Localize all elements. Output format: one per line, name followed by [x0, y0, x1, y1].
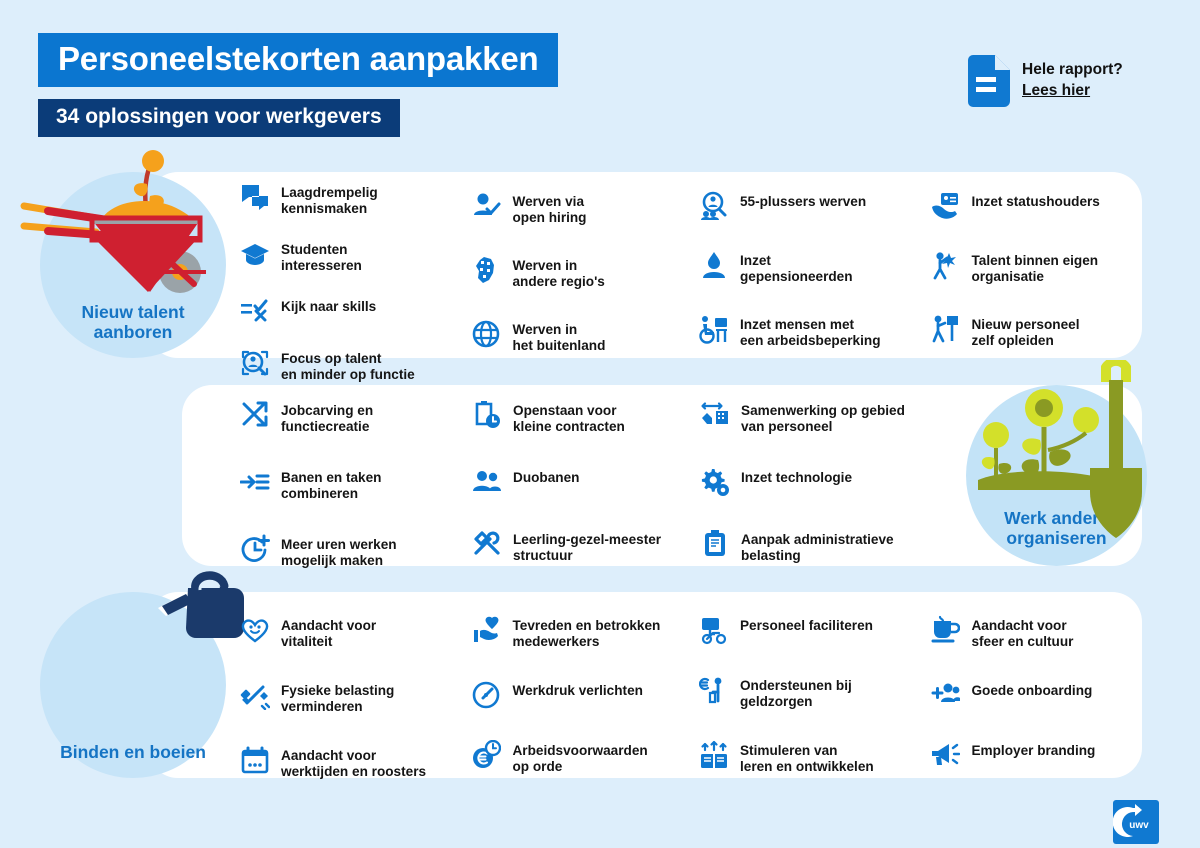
- list-item-label: Laagdrempelig kennismaken: [281, 182, 378, 217]
- split-arrows-icon: [240, 400, 270, 430]
- add-people-icon: [930, 680, 960, 710]
- list-item-label: Leerling-gezel-meester structuur: [513, 529, 661, 564]
- page-title: Personeelstekorten aanpakken: [38, 33, 558, 87]
- list-item[interactable]: Aandacht voor vitaliteit: [240, 615, 471, 650]
- list-item[interactable]: Samenwerking op gebied van personeel: [700, 400, 940, 435]
- list-item-label: Inzet statushouders: [971, 191, 1099, 210]
- hand-id-card-icon: [930, 191, 960, 221]
- list-item-label: Duobanen: [513, 467, 579, 486]
- section-badge-label: Nieuw talent aanboren: [40, 302, 226, 342]
- list-item-label: Kijk naar skills: [281, 296, 376, 315]
- list-item[interactable]: Fysieke belasting verminderen: [240, 680, 471, 715]
- list-item-label: Tevreden en betrokken medewerkers: [512, 615, 660, 650]
- person-check-icon: [471, 191, 501, 221]
- page-subtitle: 34 oplossingen voor werkgevers: [38, 99, 400, 137]
- report-read-here[interactable]: Lees hier: [1022, 81, 1123, 102]
- person-magnifier-focus-icon: [240, 348, 270, 378]
- list-item-label: Aanpak administratieve belasting: [741, 529, 894, 564]
- list-item-label: Jobcarving en functiecreatie: [281, 400, 373, 435]
- list-item-label: Banen en taken combineren: [281, 467, 381, 502]
- clipboard-clock-icon: [472, 400, 502, 430]
- list-item[interactable]: Aandacht voor sfeer en cultuur: [930, 615, 1140, 650]
- person-senior-icon: [699, 250, 729, 280]
- hand-heart-icon: [471, 615, 501, 645]
- gauge-icon: [471, 680, 501, 710]
- clipboard-document-icon: [700, 529, 730, 559]
- list-item[interactable]: Goede onboarding: [930, 680, 1140, 710]
- person-whiteboard-icon: [930, 314, 960, 344]
- list-item-label: Meer uren werken mogelijk maken: [281, 534, 397, 569]
- list-item-label: 55-plussers werven: [740, 191, 866, 210]
- heart-smile-icon: [240, 615, 270, 645]
- list-item-label: Studenten interesseren: [281, 239, 362, 274]
- list-item-label: Arbeidsvoorwaarden op orde: [512, 740, 647, 775]
- list-item-label: Werven via open hiring: [512, 191, 586, 226]
- list-item-label: Ondersteunen bij geldzorgen: [740, 675, 852, 710]
- clock-plus-icon: [240, 534, 270, 564]
- section-badge-label: Binden en boeien: [40, 742, 226, 762]
- list-item[interactable]: Werven in andere regio's: [471, 255, 699, 290]
- list-item-label: Fysieke belasting verminderen: [281, 680, 394, 715]
- list-item[interactable]: Banen en taken combineren: [240, 467, 472, 502]
- report-link-text: Hele rapport? Lees hier: [1022, 60, 1123, 102]
- list-item-label: Aandacht voor vitaliteit: [281, 615, 376, 650]
- globe-icon: [471, 319, 501, 349]
- list-item[interactable]: Tevreden en betrokken medewerkers: [471, 615, 699, 650]
- euro-person-desk-icon: [699, 675, 729, 705]
- list-item[interactable]: Focus op talent en minder op functie: [240, 348, 471, 383]
- chat-bubbles-icon: [240, 182, 270, 212]
- list-item-label: Samenwerking op gebied van personeel: [741, 400, 905, 435]
- list-item[interactable]: 55-plussers werven: [699, 191, 930, 221]
- checklist-skills-icon: [240, 296, 270, 326]
- section-items-binden-boeien: Aandacht voor vitaliteit Fysieke belasti…: [240, 615, 1140, 780]
- infographic-page: Personeelstekorten aanpakken 34 oplossin…: [0, 0, 1200, 848]
- report-link[interactable]: Hele rapport? Lees hier: [968, 55, 1123, 107]
- wheelchair-desk-icon: [699, 314, 729, 344]
- uwv-logo: uwv: [1113, 800, 1159, 844]
- list-item[interactable]: Stimuleren van leren en ontwikkelen: [699, 740, 930, 775]
- netherlands-map-icon: [471, 255, 501, 285]
- list-item[interactable]: Nieuw personeel zelf opleiden: [930, 314, 1140, 349]
- book-arrows-up-icon: [699, 740, 729, 770]
- list-item-label: Focus op talent en minder op functie: [281, 348, 415, 383]
- list-item-label: Personeel faciliteren: [740, 615, 873, 634]
- list-item[interactable]: Leerling-gezel-meester structuur: [472, 529, 700, 564]
- list-item-label: Werkdruk verlichten: [512, 680, 642, 699]
- list-item-label: Inzet technologie: [741, 467, 852, 486]
- list-item[interactable]: Talent binnen eigen organisatie: [930, 250, 1140, 285]
- monitor-bike-icon: [699, 615, 729, 645]
- list-item[interactable]: Ondersteunen bij geldzorgen: [699, 675, 930, 710]
- graduation-cap-icon: [240, 239, 270, 269]
- gears-icon: [700, 467, 730, 497]
- list-item[interactable]: Inzet gepensioneerden: [699, 250, 930, 285]
- list-item-label: Openstaan voor kleine contracten: [513, 400, 625, 435]
- coffee-cup-icon: [930, 615, 960, 645]
- list-item[interactable]: Studenten interesseren: [240, 239, 471, 274]
- magnifier-people-icon: [699, 191, 729, 221]
- list-item[interactable]: Inzet statushouders: [930, 191, 1140, 221]
- list-item-label: Talent binnen eigen organisatie: [971, 250, 1098, 285]
- list-item-label: Aandacht voor werktijden en roosters: [281, 745, 426, 780]
- section-badge-binden-boeien: Binden en boeien: [40, 592, 226, 778]
- wrench-hammer-icon: [472, 529, 502, 559]
- list-item-label: Aandacht voor sfeer en cultuur: [971, 615, 1073, 650]
- list-item[interactable]: Duobanen: [472, 467, 700, 497]
- list-item[interactable]: Werven via open hiring: [471, 191, 699, 226]
- list-item[interactable]: Jobcarving en functiecreatie: [240, 400, 472, 435]
- list-item[interactable]: Meer uren werken mogelijk maken: [240, 534, 472, 569]
- calendar-icon: [240, 745, 270, 775]
- list-item-label: Employer branding: [971, 740, 1095, 759]
- list-item[interactable]: Arbeidsvoorwaarden op orde: [471, 740, 699, 775]
- list-item[interactable]: Inzet mensen met een arbeidsbeperking: [699, 314, 930, 349]
- section-items-nieuw-talent: Laagdrempelig kennismaken Studenten inte…: [240, 182, 1140, 383]
- list-item[interactable]: Inzet technologie: [700, 467, 940, 497]
- list-item[interactable]: Employer branding: [930, 740, 1140, 770]
- euro-clock-icon: [471, 740, 501, 770]
- two-people-icon: [472, 467, 502, 497]
- svg-text:uwv: uwv: [1129, 820, 1149, 831]
- list-item[interactable]: Werkdruk verlichten: [471, 680, 699, 710]
- report-question: Hele rapport?: [1022, 61, 1123, 78]
- list-item[interactable]: Kijk naar skills: [240, 296, 471, 326]
- list-item-label: Goede onboarding: [971, 680, 1092, 699]
- house-building-exchange-icon: [700, 400, 730, 430]
- list-item-label: Stimuleren van leren en ontwikkelen: [740, 740, 874, 775]
- list-item[interactable]: Laagdrempelig kennismaken: [240, 182, 471, 217]
- list-item-label: Werven in andere regio's: [512, 255, 604, 290]
- person-raising-hand-icon: [930, 250, 960, 280]
- list-item[interactable]: Aandacht voor werktijden en roosters: [240, 745, 471, 780]
- list-item[interactable]: Aanpak administratieve belasting: [700, 529, 940, 564]
- document-icon: [968, 55, 1010, 107]
- section-badge-nieuw-talent: Nieuw talent aanboren: [40, 172, 226, 358]
- megaphone-icon: [930, 740, 960, 770]
- section-items-werk-anders: Jobcarving en functiecreatie Banen en ta…: [240, 400, 1140, 569]
- list-item[interactable]: Personeel faciliteren: [699, 615, 930, 645]
- dumbbell-icon: [240, 680, 270, 710]
- list-item[interactable]: Openstaan voor kleine contracten: [472, 400, 700, 435]
- list-item[interactable]: Werven in het buitenland: [471, 319, 699, 354]
- list-item-label: Inzet gepensioneerden: [740, 250, 853, 285]
- list-item-label: Werven in het buitenland: [512, 319, 605, 354]
- list-item-label: Inzet mensen met een arbeidsbeperking: [740, 314, 881, 349]
- list-item-label: Nieuw personeel zelf opleiden: [971, 314, 1079, 349]
- arrow-to-list-icon: [240, 467, 270, 497]
